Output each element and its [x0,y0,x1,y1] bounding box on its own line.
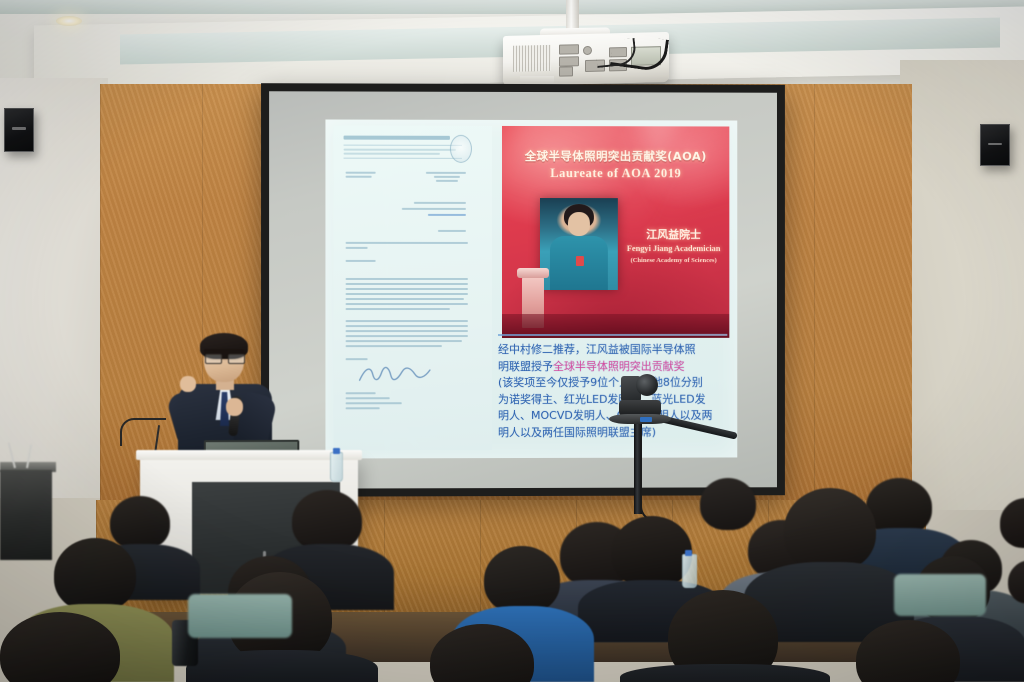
glasses-lens-left [205,354,222,364]
audience-head [110,496,170,550]
presenter-glasses [205,354,243,362]
slide-text-line-4: 为诺奖得主、红光LED发明人、蓝光LED发 [498,391,735,408]
letter-body-line-5 [346,298,464,300]
letter-address-line-2 [434,176,460,178]
recommendation-letter [334,126,492,451]
audience-head [612,516,692,588]
projected-slide: 全球半导体照明突出贡献奖(AOA) Laureate of AOA 2019 江… [325,119,737,458]
projection-screen: 全球半导体照明突出贡献奖(AOA) Laureate of AOA 2019 江… [261,83,785,497]
letter-body-line-9 [346,325,468,327]
audience-head [484,546,560,614]
honoree-name-cn: 江风益院士 [620,226,727,242]
letter-closing [346,358,368,360]
award-ceremony-image: 全球半导体照明突出贡献奖(AOA) Laureate of AOA 2019 江… [502,126,729,338]
letter-recipient-line-2 [402,208,466,210]
av-equipment-rack [0,470,52,560]
letterhead-subtext-2 [344,153,440,155]
letter-signer-title-2 [346,402,402,404]
slide-text-line-2: 明联盟授予全球半导体照明突出贡献奖 [498,358,735,375]
audience-shoulders [186,650,378,682]
letter-body-line-6 [346,303,468,305]
slide-text-line-3: (该奖项至今仅授予9位个人，其他8位分别 [498,375,735,392]
letter-date [438,230,466,232]
letter-recipient-line-1 [414,202,466,204]
letter-body-line-4 [346,293,468,295]
letterhead-rule-top [344,145,462,146]
letter-signer-affiliation [346,407,380,409]
lectern-top-surface [136,450,362,460]
ptz-camera-lens [636,374,658,396]
letter-body-line-1 [346,278,468,280]
slide-text-line-1: 经中村修二推荐，江风益被国际半导体照 [498,342,735,359]
award-title-cn: 全球半导体照明突出贡献奖(AOA) [502,148,729,164]
letter-body-line-3 [346,288,468,290]
award-title-en: Laureate of AOA 2019 [502,166,729,181]
letterhead-rule-bottom [344,158,462,159]
glasses-lens-right [228,354,245,364]
lecture-hall-photo: 全球半导体照明突出贡献奖(AOA) Laureate of AOA 2019 江… [0,0,1024,682]
letter-signer-title-1 [346,397,390,399]
audience-head [784,488,876,572]
letter-signer-name [346,392,376,394]
letter-body-line-7 [346,308,450,310]
letter-subject-line-2 [346,247,368,249]
projector-vent [513,45,551,72]
camera-brand-badge [640,417,652,422]
wall-speaker-right [980,124,1010,166]
audience-head [700,478,756,530]
letter-body-line-10 [346,330,468,332]
water-bottle-stage [682,554,697,588]
presenter-left-hand [180,376,196,392]
chair-back [188,594,292,638]
honoree-name-en: Fengyi Jiang Academician [616,244,729,253]
letterhead-subtext-1 [344,149,456,151]
projector-port-3 [583,46,592,55]
presenter-right-hand [226,398,243,416]
wall-speaker-left [4,108,34,152]
audience-head [292,490,362,552]
slide-text-line-2-plain: 明联盟授予 [498,359,553,372]
letter-salutation [346,260,376,262]
projector-port-7 [559,66,573,76]
letter-recipient-email [428,214,466,216]
projector-port-1 [559,44,579,54]
ceiling-downlight [56,16,82,26]
slide-text-highlight: 全球半导体照明突出贡献奖 [553,359,685,372]
chair-back [894,574,986,616]
audience-shoulders [620,664,830,682]
letter-address-line-3 [436,180,458,182]
letter-body-line-2 [346,283,468,285]
letter-sender-line-1 [346,172,376,174]
camera-cable [640,428,664,522]
letter-sender-line-2 [346,176,372,178]
slide-divider-rule [498,334,727,336]
audience-head [54,538,136,612]
projector-port-2 [559,56,579,66]
portrait-badge [576,256,584,266]
honoree-portrait [540,198,618,290]
letter-body-line-13 [346,345,442,347]
honoree-affiliation: (Chinese Academy of Sciences) [614,257,729,264]
audience-head [868,478,878,488]
letter-subject-line [346,242,468,244]
letter-body-line-11 [346,335,468,337]
letter-address-line-1 [426,172,466,174]
university-seal-icon [450,135,472,163]
water-bottle-podium [330,452,343,482]
letter-body-line-8 [346,320,468,322]
letter-signature [358,364,432,384]
portrait-face [568,212,590,236]
letterhead-title [344,136,450,140]
letter-body-line-12 [346,340,462,342]
